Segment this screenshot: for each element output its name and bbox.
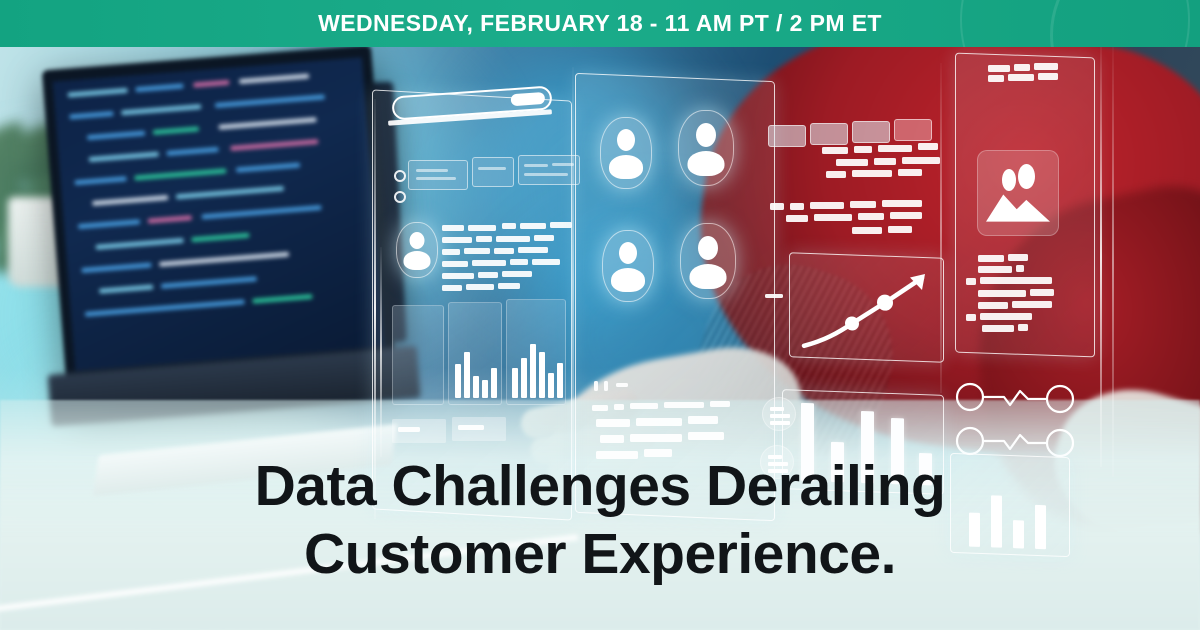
tab-item[interactable] [408,160,468,190]
panel-edge-line [1112,47,1114,477]
date-banner-text: WEDNESDAY, FEBRUARY 18 - 11 AM PT / 2 PM… [0,0,1200,47]
tab-item-active[interactable] [894,119,932,141]
tab-item[interactable] [472,157,514,187]
user-avatar-icon[interactable] [600,117,652,189]
tab-label-line [478,167,506,170]
search-icon [510,92,545,106]
radio-button[interactable] [394,191,406,203]
tick-mark [604,381,608,391]
tick-mark [616,383,628,387]
list-icon[interactable] [762,397,796,431]
tab-label-line [416,177,456,180]
tab-label-line [416,169,448,172]
promo-banner-canvas: Data Challenges Derailing Customer Exper… [0,0,1200,630]
tab-item[interactable] [768,125,806,147]
headline-line-2: Customer Experience. [0,520,1200,588]
tab-label-line [552,163,574,166]
tab-item[interactable] [852,121,890,143]
dashboard-card[interactable] [392,305,444,405]
panel-edge-line [940,63,942,393]
dashboard-card-chart-a[interactable] [448,302,502,405]
panel-edge-line [1100,47,1102,467]
user-avatar-icon[interactable] [602,230,654,302]
image-placeholder-icon [977,150,1059,236]
tick-mark [594,381,598,391]
panel-edge-line [380,247,382,457]
dashboard-card-chart-b[interactable] [506,299,566,405]
headline-line-1: Data Challenges Derailing [0,452,1200,520]
tab-item[interactable] [518,155,580,185]
user-avatar-icon [396,222,438,278]
tab-item[interactable] [810,123,848,145]
card-label [458,425,484,430]
tab-label-line [524,173,568,176]
radio-button[interactable] [394,170,406,182]
tab-label-line [524,164,548,167]
user-avatar-icon[interactable] [678,110,734,186]
panel-edge-line [572,67,574,497]
line-chart[interactable] [789,252,944,362]
card-label [398,427,420,432]
user-avatar-icon[interactable] [680,223,736,299]
date-banner: WEDNESDAY, FEBRUARY 18 - 11 AM PT / 2 PM… [0,0,1200,47]
page-title: Data Challenges Derailing Customer Exper… [0,452,1200,588]
chart-legend-dash [765,294,783,298]
